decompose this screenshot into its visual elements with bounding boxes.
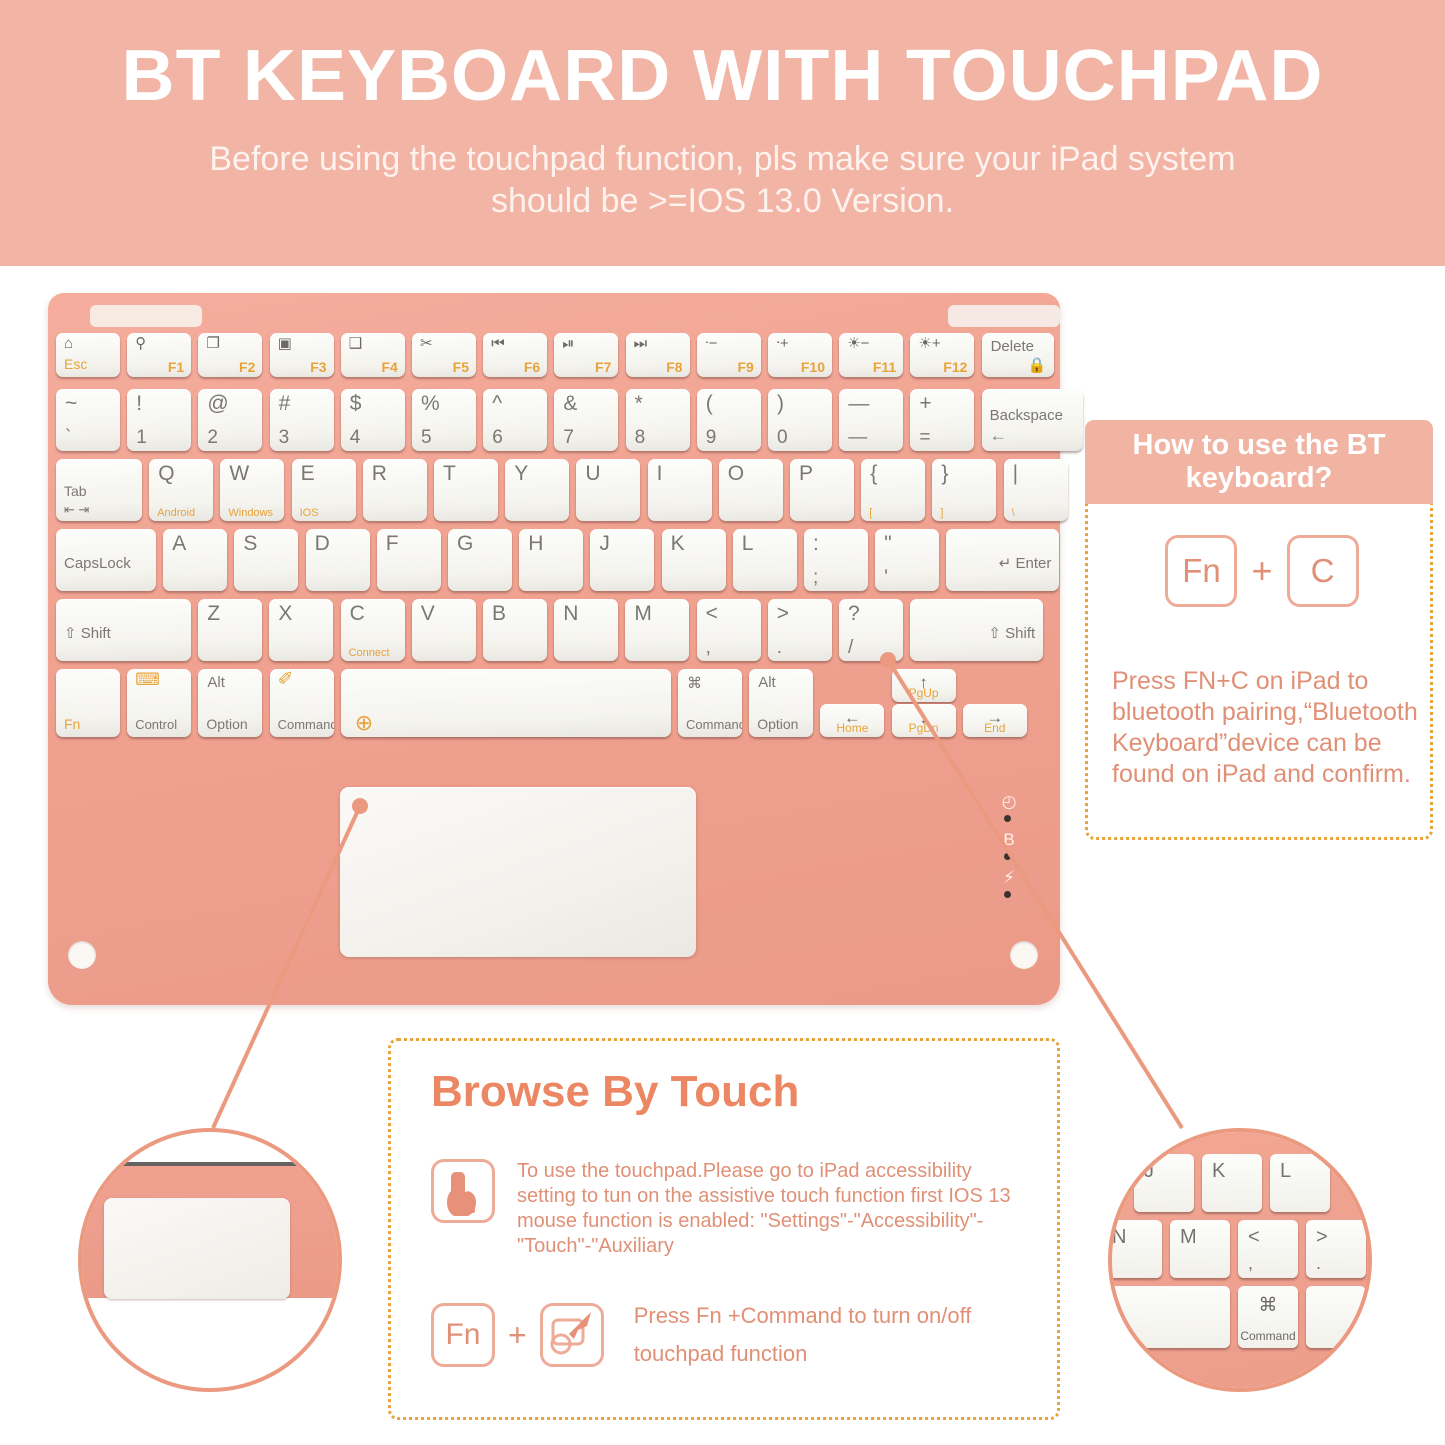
plus-symbol-browse: + xyxy=(508,1317,527,1354)
key-fn-label: F6 xyxy=(524,359,540,375)
key-f4[interactable]: ❑F4 xyxy=(341,333,405,377)
key-lower-glyph: . xyxy=(777,638,782,658)
key-6[interactable]: ^6 xyxy=(483,389,547,451)
key-l[interactable]: L xyxy=(733,529,797,591)
key-glyph: I xyxy=(657,463,663,485)
key-f10[interactable]: ᐧ+F10 xyxy=(768,333,832,377)
header-subtitle: Before using the touchpad function, pls … xyxy=(160,138,1285,222)
volume-up-icon: ᐧ+ xyxy=(776,336,789,352)
key-glyph: B xyxy=(492,603,506,625)
key-label: Delete xyxy=(991,338,1034,355)
browse-row1-text: To use the touchpad.Please go to iPad ac… xyxy=(517,1159,1031,1259)
key-r[interactable]: R xyxy=(363,459,427,521)
key-c[interactable]: CConnect xyxy=(341,599,405,661)
key-glyph: Z xyxy=(207,603,220,625)
home-icon: ⌂ xyxy=(64,336,73,352)
key-fn-label: F5 xyxy=(453,359,469,375)
key-5[interactable]: %5 xyxy=(412,389,476,451)
key-=[interactable]: += xyxy=(910,389,974,451)
key-7[interactable]: &7 xyxy=(554,389,618,451)
key-fn-label: F8 xyxy=(666,359,682,375)
brightness-up-icon: ☀+ xyxy=(918,336,940,352)
key-lower-glyph: 1 xyxy=(136,428,147,448)
globe-icon: ⊕ xyxy=(355,715,373,731)
key-m[interactable]: M xyxy=(625,599,689,661)
key-glyph: K xyxy=(671,533,685,555)
fn-keycap: Fn xyxy=(1165,535,1237,607)
play-pause-icon: ⏯ xyxy=(562,336,574,352)
key-lower-glyph: — xyxy=(848,428,867,448)
key-d[interactable]: D xyxy=(306,529,370,591)
key-b[interactable]: B xyxy=(483,599,547,661)
key-label: Command xyxy=(686,717,742,732)
rubber-foot-right xyxy=(1010,941,1038,969)
key-glyph: | xyxy=(1013,463,1018,485)
magnified-key-l: L xyxy=(1270,1154,1330,1212)
key-2[interactable]: @2 xyxy=(198,389,262,451)
key-top-label: ⌘ xyxy=(687,674,702,692)
rubber-foot-left xyxy=(68,941,96,969)
key-upper-glyph: ? xyxy=(848,603,860,625)
magnified-key-k: K xyxy=(1202,1154,1262,1212)
key-9[interactable]: (9 xyxy=(697,389,761,451)
key-shift[interactable]: ⇧ Shift xyxy=(56,599,191,661)
bluetooth-signal-indicator-glyph: ◴ xyxy=(996,793,1022,811)
keyboard-body: ⌂Esc⚲F1❐F2▣F3❑F4✂F5⏮F6⏯F7⏭F8ᐧ−F9ᐧ+F10☀−F… xyxy=(48,293,1060,1005)
key-upper-glyph: ( xyxy=(706,393,713,415)
key-lower-glyph: 8 xyxy=(635,428,646,448)
touch-finger-icon xyxy=(431,1159,495,1223)
key-glyph: C xyxy=(350,603,365,625)
key-f6[interactable]: ⏮F6 xyxy=(483,333,547,377)
key-lower-glyph: 9 xyxy=(706,428,717,448)
key-sub-label: Windows xyxy=(228,507,273,519)
magnifier-keys-detail: JKLNM<,>.⌘Command xyxy=(1108,1128,1372,1392)
keyboard-icon: ⌨ xyxy=(135,672,160,688)
key-matrix: ⌂Esc⚲F1❐F2▣F3❑F4✂F5⏮F6⏯F7⏭F8ᐧ−F9ᐧ+F10☀−F… xyxy=(56,333,1052,743)
key-[interactable]: ?/ xyxy=(839,599,903,661)
command-glyph: ⌘ xyxy=(1238,1294,1298,1317)
key-upper-glyph: & xyxy=(563,393,577,415)
key-glyph: S xyxy=(243,533,257,555)
key-fn-label: F9 xyxy=(737,359,753,375)
key-enter[interactable]: ↵ Enter xyxy=(946,529,1059,591)
key-glyph: Q xyxy=(158,463,174,485)
key-v[interactable]: V xyxy=(412,599,476,661)
app-switcher-icon: ❐ xyxy=(206,336,219,352)
key-label: ⇧ Shift xyxy=(64,626,111,641)
magnified-key-cluster: JKLNM<,>.⌘Command xyxy=(1112,1132,1368,1388)
touchpad-cursor-icon xyxy=(540,1303,604,1367)
browse-panel-title: Browse By Touch xyxy=(431,1067,799,1117)
key-fn[interactable]: Fn xyxy=(56,669,120,737)
key-p[interactable]: P xyxy=(790,459,854,521)
key-`[interactable]: ~` xyxy=(56,389,120,451)
arrow-left-key[interactable]: ←Home xyxy=(820,704,884,737)
key-label: CapsLock xyxy=(64,556,131,571)
key-f9[interactable]: ᐧ−F9 xyxy=(697,333,761,377)
browse-row-accessibility: To use the touchpad.Please go to iPad ac… xyxy=(431,1159,1031,1259)
shift-key-row: ⇧ ShiftZXCConnectVBNM<,>.?/⇧ Shift xyxy=(56,593,1052,663)
key-upper-glyph: # xyxy=(279,393,291,415)
magnified-key-glyph: K xyxy=(1212,1160,1225,1183)
key-label: Option xyxy=(206,717,247,732)
key-a[interactable]: A xyxy=(163,529,227,591)
key-1[interactable]: !1 xyxy=(127,389,191,451)
plus-symbol: + xyxy=(1251,550,1272,592)
browse-by-touch-panel: Browse By Touch To use the touchpad.Plea… xyxy=(388,1038,1060,1420)
previous-track-icon: ⏮ xyxy=(491,336,505,352)
arrow-up-key[interactable]: ↑PgUp xyxy=(892,669,956,702)
howto-panel: How to use the BT keyboard? Fn + C Press… xyxy=(1085,420,1433,840)
key-glyph: V xyxy=(421,603,435,625)
tab-arrows-icon: ⇤ ⇥ xyxy=(64,502,89,517)
key-fn-label: F12 xyxy=(943,359,967,375)
qwerty-key-row: Tab⇤ ⇥QAndroidWWindowsEIOSRTYUIOP{[}]|\ xyxy=(56,453,1052,523)
key-fn-label: F11 xyxy=(873,359,896,375)
key-lower-glyph: 7 xyxy=(563,428,574,448)
key-option[interactable]: AltOption xyxy=(198,669,262,737)
key-top-label: Alt xyxy=(758,674,776,691)
key-f12[interactable]: ☀+F12 xyxy=(910,333,974,377)
key-glyph: T xyxy=(443,463,456,485)
key-glyph: R xyxy=(372,463,387,485)
howto-panel-body: Press FN+C on iPad to bluetooth pairing,… xyxy=(1112,666,1418,790)
key-f3[interactable]: ▣F3 xyxy=(270,333,334,377)
arrow-down-key[interactable]: ↓PgDn xyxy=(892,704,956,737)
key-glyph: Y xyxy=(514,463,528,485)
key-glyph: H xyxy=(528,533,543,555)
key-fn-label: F4 xyxy=(381,359,397,375)
key-lower-glyph: / xyxy=(848,638,853,658)
key-sub-label: ] xyxy=(940,507,943,519)
key-glyph: X xyxy=(278,603,292,625)
key-s[interactable]: S xyxy=(234,529,298,591)
key-option[interactable]: AltOption xyxy=(749,669,813,737)
key-y[interactable]: Y xyxy=(505,459,569,521)
key-4[interactable]: $4 xyxy=(341,389,405,451)
key-label: Tab xyxy=(64,484,87,499)
key-8[interactable]: *8 xyxy=(626,389,690,451)
key-lower-glyph: 3 xyxy=(279,428,290,448)
key-lower-glyph: 4 xyxy=(350,428,361,448)
magnified-key-command: ⌘Command xyxy=(1238,1286,1298,1348)
key-k[interactable]: K xyxy=(662,529,726,591)
key-3[interactable]: #3 xyxy=(270,389,334,451)
key-q[interactable]: QAndroid xyxy=(149,459,213,521)
key-upper-glyph: $ xyxy=(350,393,362,415)
key-f2[interactable]: ❐F2 xyxy=(198,333,262,377)
howto-key-combo: Fn + C xyxy=(1088,535,1436,607)
hinge-notch-left xyxy=(90,305,202,327)
key-0[interactable]: )0 xyxy=(768,389,832,451)
key-upper-glyph: + xyxy=(919,393,931,415)
key-label: Option xyxy=(757,717,798,732)
bluetooth-signal-indicator: ◴ xyxy=(996,793,1030,831)
key-lower-glyph: , xyxy=(706,638,711,658)
key-z[interactable]: Z xyxy=(198,599,262,661)
key-upper-glyph: : xyxy=(813,533,819,555)
key-space[interactable]: ⊕ xyxy=(341,669,671,737)
key-lower-glyph: ` xyxy=(65,428,71,448)
battery-charge-indicator-glyph: ⚡ xyxy=(996,869,1022,887)
key-[interactable]: <, xyxy=(697,599,761,661)
magnified-key-subglyph: . xyxy=(1316,1253,1321,1274)
key-label: ⇧ Shift xyxy=(988,626,1035,641)
key-subglyph: ← xyxy=(990,428,1007,443)
key-command[interactable]: ✐Command xyxy=(270,669,334,737)
browse-row2-text: Press Fn +Command to turn on/off touchpa… xyxy=(634,1297,1031,1373)
key-[interactable]: :; xyxy=(804,529,868,591)
browse-row-toggle: Fn + Press Fn +Command to turn on/off to… xyxy=(431,1297,1031,1373)
key-upper-glyph: ! xyxy=(136,393,142,415)
key-glyph: } xyxy=(941,463,948,485)
key-fn-label: F3 xyxy=(310,359,326,375)
key-f[interactable]: F xyxy=(377,529,441,591)
key-u[interactable]: U xyxy=(576,459,640,521)
caps-lock-indicator-led xyxy=(1004,853,1011,860)
key-sub-label: \ xyxy=(1012,507,1015,519)
key-f11[interactable]: ☀−F11 xyxy=(839,333,903,377)
key-glyph: G xyxy=(457,533,473,555)
key-command[interactable]: ⌘Command xyxy=(678,669,742,737)
key-j[interactable]: J xyxy=(590,529,654,591)
key-—[interactable]: —— xyxy=(839,389,903,451)
key-fn-label: End xyxy=(963,721,1027,735)
key-[interactable]: {[ xyxy=(861,459,925,521)
key-lower-glyph: 2 xyxy=(207,428,218,448)
scissors-icon: ✂ xyxy=(420,336,433,352)
key-fn-label: F7 xyxy=(595,359,611,375)
magnified-key-comma: <, xyxy=(1238,1220,1298,1278)
howto-panel-header: How to use the BT keyboard? xyxy=(1085,420,1433,504)
key-esc[interactable]: ⌂Esc xyxy=(56,333,120,377)
key-delete[interactable]: Delete🔒 xyxy=(982,333,1054,377)
brightness-down-icon: ☀− xyxy=(847,336,869,352)
key-glyph: { xyxy=(870,463,877,485)
key-top-label: Alt xyxy=(207,674,225,691)
magnified-key-glyph: M xyxy=(1180,1226,1197,1249)
key-lower-glyph: 6 xyxy=(492,428,503,448)
magnified-touchpad xyxy=(104,1198,290,1299)
key-upper-glyph: * xyxy=(635,393,643,415)
key-o[interactable]: O xyxy=(719,459,783,521)
modifier-key-row: Fn⌨ControlAltOption✐Command⊕⌘CommandAltO… xyxy=(56,663,1052,743)
key-shift[interactable]: ⇧ Shift xyxy=(910,599,1043,661)
key-f1[interactable]: ⚲F1 xyxy=(127,333,191,377)
key-←[interactable]: Backspace← xyxy=(982,389,1083,451)
key-label: Control xyxy=(135,717,177,732)
key-glyph: N xyxy=(563,603,578,625)
key-[interactable]: |\ xyxy=(1004,459,1068,521)
key-upper-glyph: < xyxy=(706,603,718,625)
magnified-key-glyph: J xyxy=(1144,1160,1154,1183)
key-sub-label: [ xyxy=(869,507,872,519)
c-keycap: C xyxy=(1287,535,1359,607)
battery-charge-indicator: ⚡ xyxy=(996,869,1030,907)
key-sub-label: Connect xyxy=(349,647,390,659)
caps-lock-indicator-glyph: B xyxy=(996,831,1022,849)
key-[interactable]: }] xyxy=(932,459,996,521)
key-glyph: J xyxy=(599,533,610,555)
key-glyph: W xyxy=(229,463,249,485)
key-n[interactable]: N xyxy=(554,599,618,661)
arrow-right-key[interactable]: →End xyxy=(963,704,1027,737)
key-upper-glyph: ~ xyxy=(65,393,77,415)
command-label: Command xyxy=(1238,1329,1298,1343)
magnified-key-subglyph: , xyxy=(1248,1253,1253,1274)
magnified-key-space xyxy=(1108,1286,1230,1348)
key-lower-glyph: 5 xyxy=(421,428,432,448)
magnified-key-glyph: L xyxy=(1280,1160,1291,1183)
magnified-key-period: >. xyxy=(1306,1220,1366,1278)
lock-icon: 🔒 xyxy=(1028,356,1047,374)
key-upper-glyph: > xyxy=(777,603,789,625)
key-f5[interactable]: ✂F5 xyxy=(412,333,476,377)
key-x[interactable]: X xyxy=(269,599,333,661)
key-i[interactable]: I xyxy=(648,459,712,521)
magnified-edge-line xyxy=(78,1162,342,1166)
key-upper-glyph: — xyxy=(848,393,869,415)
key-upper-glyph: % xyxy=(421,393,440,415)
key-fn-label: F2 xyxy=(239,359,255,375)
key-glyph: P xyxy=(799,463,813,485)
key-glyph: D xyxy=(315,533,330,555)
key-f8[interactable]: ⏭F8 xyxy=(626,333,690,377)
key-t[interactable]: T xyxy=(434,459,498,521)
key-glyph: O xyxy=(728,463,744,485)
key-[interactable]: >. xyxy=(768,599,832,661)
key-fn-label: PgUp xyxy=(892,686,956,700)
key-[interactable]: "' xyxy=(875,529,939,591)
key-tab[interactable]: Tab⇤ ⇥ xyxy=(56,459,142,521)
status-indicator-group: ◴B⚡ xyxy=(996,793,1030,907)
key-e[interactable]: EIOS xyxy=(292,459,356,521)
magnified-key-glyph: N xyxy=(1112,1226,1126,1249)
key-glyph: A xyxy=(172,533,186,555)
key-upper-glyph: ) xyxy=(777,393,784,415)
search-icon: ⚲ xyxy=(135,336,146,352)
key-lower-glyph: ' xyxy=(884,568,888,588)
magnified-key-glyph: < xyxy=(1248,1226,1260,1249)
key-fn-label: F10 xyxy=(801,359,825,375)
key-label: Esc xyxy=(64,357,87,372)
magnifier-touchpad-detail xyxy=(78,1128,342,1392)
howto-panel-title: How to use the BT keyboard? xyxy=(1085,429,1433,495)
bluetooth-signal-indicator-led xyxy=(1004,815,1011,822)
touchpad[interactable] xyxy=(340,787,696,957)
header-banner: BT KEYBOARD WITH TOUCHPAD Before using t… xyxy=(0,0,1445,266)
page-title: BT KEYBOARD WITH TOUCHPAD xyxy=(0,36,1445,116)
key-lower-glyph: = xyxy=(919,428,930,448)
magnified-key-j: J xyxy=(1134,1154,1194,1212)
magnified-key-option xyxy=(1306,1286,1366,1348)
key-w[interactable]: WWindows xyxy=(220,459,284,521)
magnified-key-glyph: > xyxy=(1316,1226,1328,1249)
key-glyph: L xyxy=(742,533,754,555)
key-capslock[interactable]: CapsLock xyxy=(56,529,156,591)
caps-lock-indicator: B xyxy=(996,831,1030,869)
home-screen-icon: ▣ xyxy=(278,336,292,352)
volume-down-icon: ᐧ− xyxy=(705,336,718,352)
screenshot-icon: ❑ xyxy=(349,336,362,352)
key-label: Command xyxy=(278,717,334,732)
magnified-key-n: N xyxy=(1108,1220,1162,1278)
key-label: Backspace xyxy=(990,408,1063,423)
number-key-row: ~`!1@2#3$4%5^6&7*8(9)0——+=Backspace← xyxy=(56,383,1052,453)
key-glyph: M xyxy=(634,603,652,625)
key-upper-glyph: " xyxy=(884,533,891,555)
home-key-row: CapsLockASDFGHJKL:;"'↵ Enter xyxy=(56,523,1052,593)
key-glyph: E xyxy=(301,463,315,485)
key-f7[interactable]: ⏯F7 xyxy=(554,333,618,377)
key-fn-label: PgDn xyxy=(892,721,956,735)
key-label: ↵ Enter xyxy=(999,556,1052,571)
key-label: Fn xyxy=(64,717,80,732)
key-fn-label: F1 xyxy=(168,359,184,375)
key-glyph: F xyxy=(386,533,399,555)
key-sub-label: Android xyxy=(157,507,195,519)
magnified-key-m: M xyxy=(1170,1220,1230,1278)
key-h[interactable]: H xyxy=(519,529,583,591)
key-control[interactable]: ⌨Control xyxy=(127,669,191,737)
function-key-row: ⌂Esc⚲F1❐F2▣F3❑F4✂F5⏮F6⏯F7⏭F8ᐧ−F9ᐧ+F10☀−F… xyxy=(56,333,1052,383)
key-glyph: U xyxy=(585,463,600,485)
key-upper-glyph: ^ xyxy=(492,393,502,415)
key-sub-label: IOS xyxy=(300,507,319,519)
key-upper-glyph: @ xyxy=(207,393,228,415)
key-lower-glyph: ; xyxy=(813,568,818,588)
fn-keycap-browse: Fn xyxy=(431,1303,495,1367)
key-g[interactable]: G xyxy=(448,529,512,591)
key-fn-label: Home xyxy=(820,721,884,735)
next-track-icon: ⏭ xyxy=(634,336,648,352)
hinge-notch-right xyxy=(948,305,1060,327)
battery-charge-indicator-led xyxy=(1004,891,1011,898)
key-lower-glyph: 0 xyxy=(777,428,788,448)
mouse-pointer-icon: ✐ xyxy=(278,672,294,688)
